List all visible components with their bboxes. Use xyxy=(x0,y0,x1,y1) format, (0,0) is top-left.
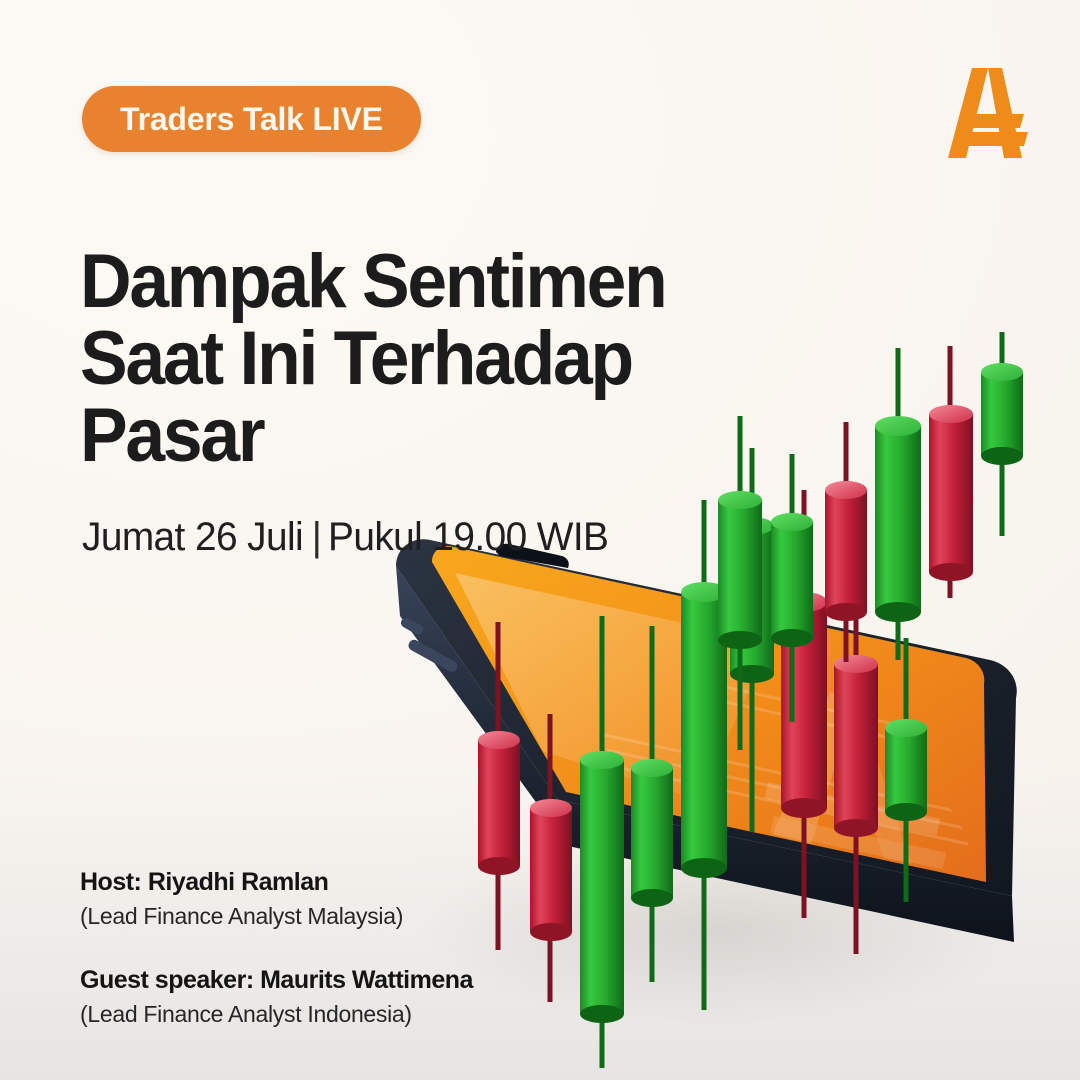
credit-guest: Guest speaker: Maurits Wattimena (Lead F… xyxy=(80,964,550,1030)
page-title-line-2: Saat Ini Terhadap xyxy=(80,320,738,397)
candle-17 xyxy=(981,332,1023,536)
schedule-separator: | xyxy=(312,515,322,560)
brand-logo xyxy=(932,62,1036,162)
credit-host-name: Host: Riyadhi Ramlan xyxy=(80,866,550,898)
credit-guest-role: (Lead Finance Analyst Indonesia) xyxy=(80,999,550,1030)
page-title: Dampak Sentimen Saat Ini Terhadap Pasar xyxy=(80,243,738,474)
live-badge[interactable]: Traders Talk LIVE xyxy=(82,86,421,152)
credits-block: Host: Riyadhi Ramlan (Lead Finance Analy… xyxy=(80,866,550,1030)
live-badge-label: Traders Talk LIVE xyxy=(120,101,383,138)
candle-15 xyxy=(875,348,921,660)
schedule-line: Jumat 26 Juli|Pukul 19.00 WIB xyxy=(82,515,608,560)
credit-guest-name: Guest speaker: Maurits Wattimena xyxy=(80,964,550,996)
credit-host: Host: Riyadhi Ramlan (Lead Finance Analy… xyxy=(80,866,550,932)
page-title-line-3: Pasar xyxy=(80,397,738,474)
credit-host-role: (Lead Finance Analyst Malaysia) xyxy=(80,901,550,932)
poster-canvas: Traders Talk LIVE Dampak Sentimen Saat I… xyxy=(0,0,1080,1080)
ascendex-a-logo-icon xyxy=(948,68,1028,158)
schedule-time: Pukul 19.00 WIB xyxy=(328,515,608,559)
page-title-line-1: Dampak Sentimen xyxy=(80,243,738,320)
schedule-date: Jumat 26 Juli xyxy=(82,515,303,559)
candle-16 xyxy=(929,346,973,598)
